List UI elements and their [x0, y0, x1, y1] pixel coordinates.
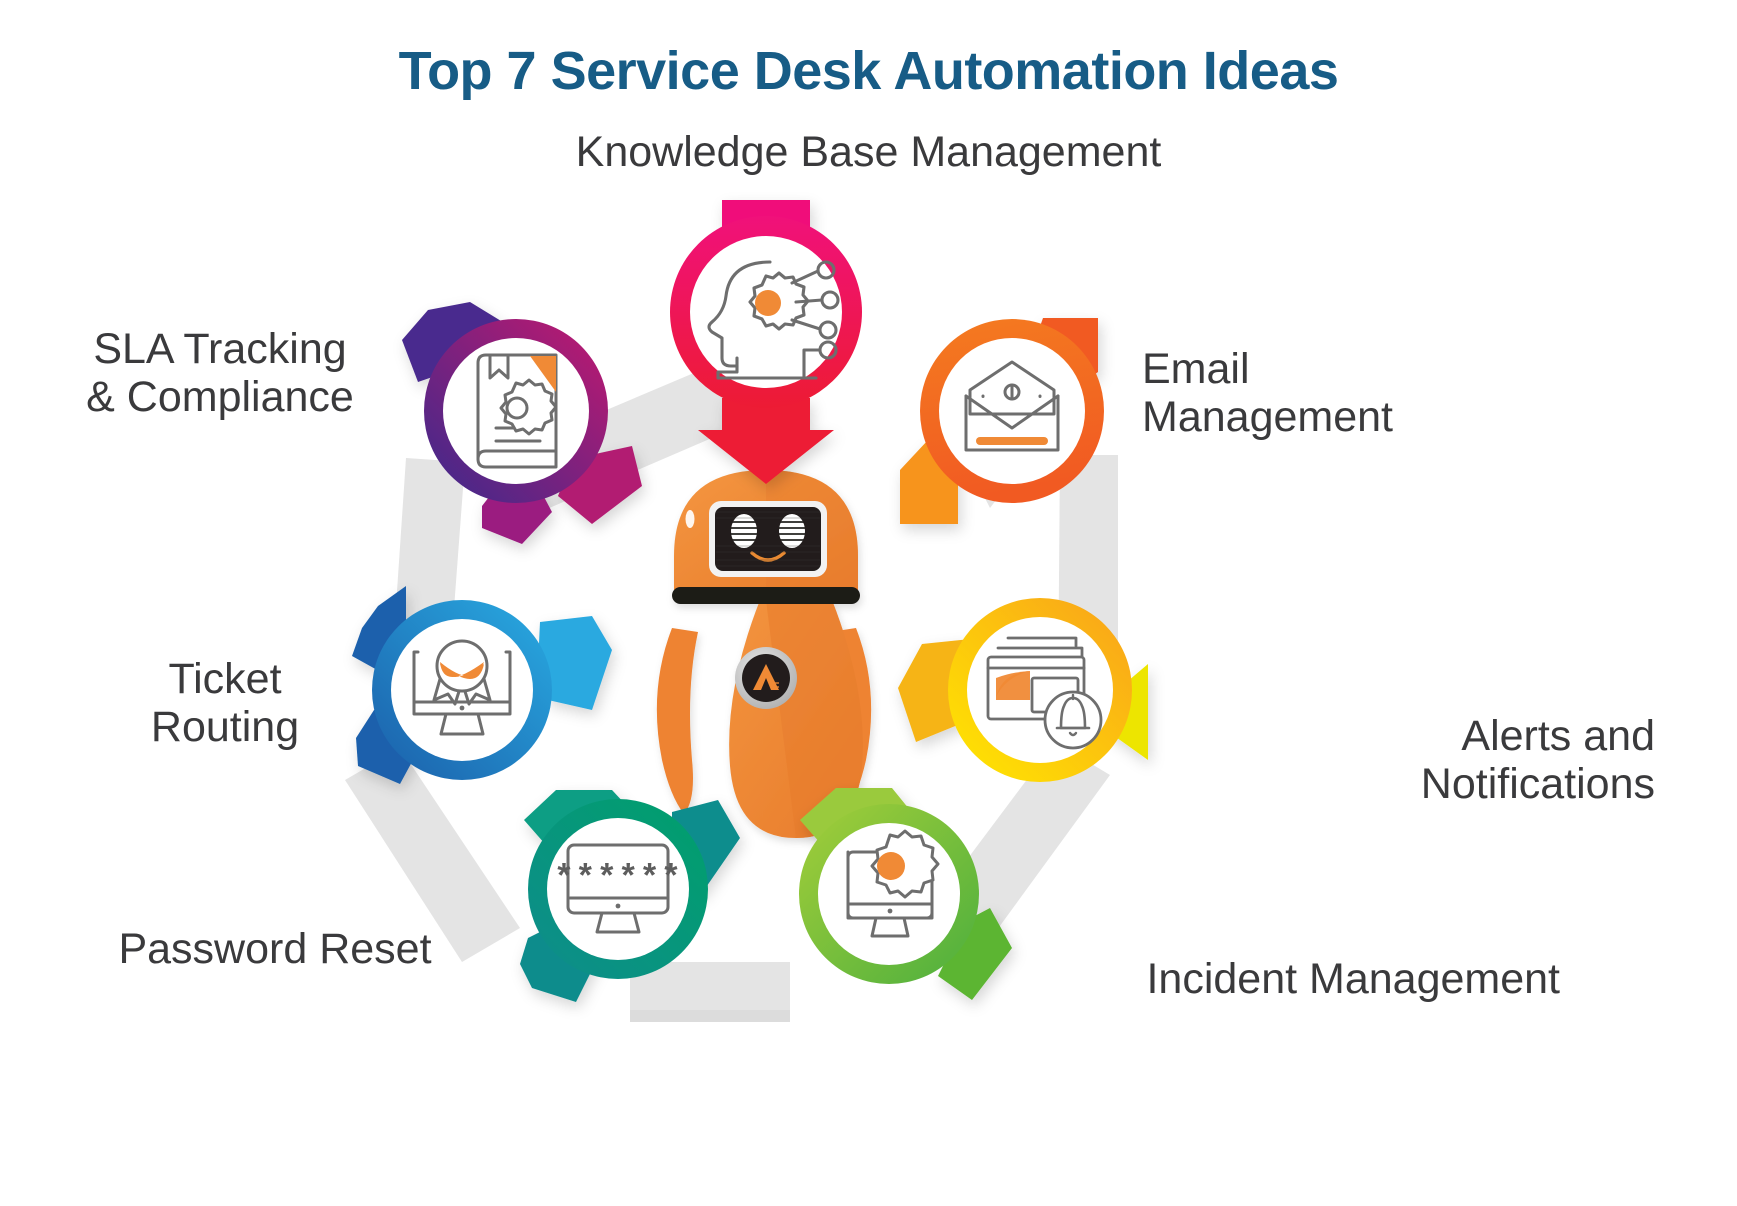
label-sla-tracking-compliance: SLA Tracking & Compliance: [30, 325, 410, 421]
envelope-accent: [976, 437, 1048, 445]
node-ticket-routing[interactable]: [352, 586, 612, 784]
service-desk-robot: [657, 470, 871, 838]
left-eye: [731, 514, 757, 548]
password-mask-text: ******: [554, 861, 682, 899]
right-eye: [779, 514, 805, 548]
label-password-reset: Password Reset: [40, 925, 510, 973]
bell-icon: [1045, 692, 1101, 748]
label-alerts-and-notifications: Alerts and Notifications: [1185, 712, 1655, 808]
head-highlight: [686, 510, 695, 528]
label-knowledge-base-management: Knowledge Base Management: [0, 128, 1737, 176]
label-ticket-routing: Ticket Routing: [60, 655, 390, 751]
infographic-canvas: Top 7 Service Desk Automation Ideas: [0, 0, 1737, 1206]
label-email-management: Email Management: [1142, 345, 1562, 441]
label-incident-management: Incident Management: [940, 955, 1560, 1003]
neck-band: [672, 587, 860, 604]
wheel-diagram: ******: [0, 0, 1737, 1206]
email-disc: [939, 338, 1085, 484]
